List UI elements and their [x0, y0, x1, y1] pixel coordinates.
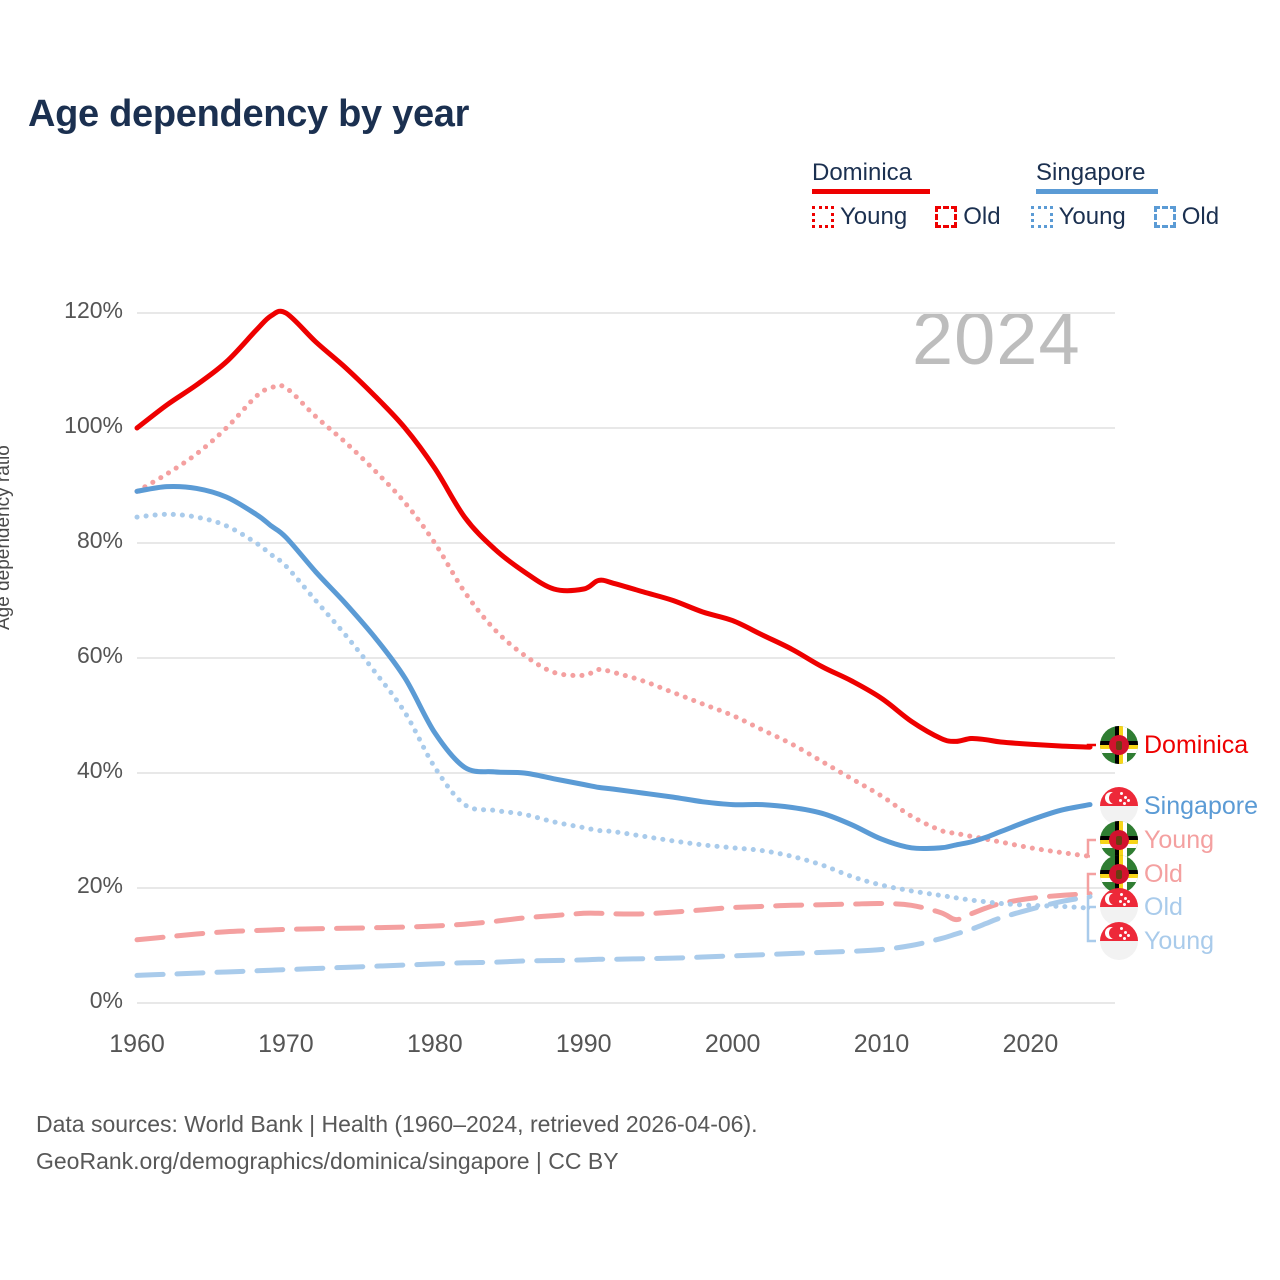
series-line-dominica-old — [137, 894, 1090, 940]
footer-line-attribution: GeoRank.org/demographics/dominica/singap… — [36, 1143, 758, 1180]
chart-canvas — [0, 0, 1280, 1280]
end-label-leader-line — [1088, 897, 1096, 907]
end-label-leader-line — [1088, 874, 1096, 894]
end-label-text: Young — [1144, 826, 1214, 855]
x-axis-tick-label: 1980 — [380, 1030, 490, 1059]
end-label-text: Young — [1144, 927, 1214, 956]
singapore-flag-icon — [1100, 787, 1138, 825]
x-axis-tick-label: 1990 — [529, 1030, 639, 1059]
y-axis-tick-label: 100% — [28, 412, 123, 439]
singapore-flag-icon — [1100, 922, 1138, 960]
y-axis-tick-label: 120% — [28, 297, 123, 324]
y-axis-tick-label: 80% — [28, 527, 123, 554]
y-axis-tick-label: 0% — [28, 987, 123, 1014]
y-axis-tick-label: 40% — [28, 757, 123, 784]
x-axis-tick-label: 2000 — [678, 1030, 788, 1059]
end-label-text: Singapore — [1144, 792, 1258, 821]
end-label-old-4[interactable]: Old — [1100, 888, 1183, 926]
series-line-singapore — [137, 486, 1090, 848]
end-label-young-2[interactable]: Young — [1100, 821, 1214, 859]
y-axis-tick-label: 20% — [28, 872, 123, 899]
end-label-young-5[interactable]: Young — [1100, 922, 1214, 960]
singapore-flag-icon — [1100, 888, 1138, 926]
end-label-leader-line — [1088, 908, 1096, 941]
y-axis-tick-label: 60% — [28, 642, 123, 669]
x-axis-tick-label: 1970 — [231, 1030, 341, 1059]
end-label-text: Dominica — [1144, 731, 1248, 760]
footer-line-sources: Data sources: World Bank | Health (1960–… — [36, 1106, 758, 1143]
x-axis-tick-label: 2010 — [827, 1030, 937, 1059]
end-label-dominica-0[interactable]: Dominica — [1100, 726, 1248, 764]
footer: Data sources: World Bank | Health (1960–… — [36, 1106, 758, 1180]
end-label-singapore-1[interactable]: Singapore — [1100, 787, 1258, 825]
x-axis-tick-label: 1960 — [82, 1030, 192, 1059]
series-line-singapore-old — [137, 897, 1090, 976]
series-line-dominica-young — [137, 385, 1090, 856]
dominica-flag-icon — [1100, 726, 1138, 764]
dominica-flag-icon — [1100, 821, 1138, 859]
end-label-text: Old — [1144, 893, 1183, 922]
x-axis-tick-label: 2020 — [975, 1030, 1085, 1059]
end-label-leader-line — [1088, 840, 1096, 856]
chart-plot-area: Age dependency ratio 0%20%40%60%80%100%1… — [0, 0, 1280, 1280]
end-label-text: Old — [1144, 860, 1183, 889]
